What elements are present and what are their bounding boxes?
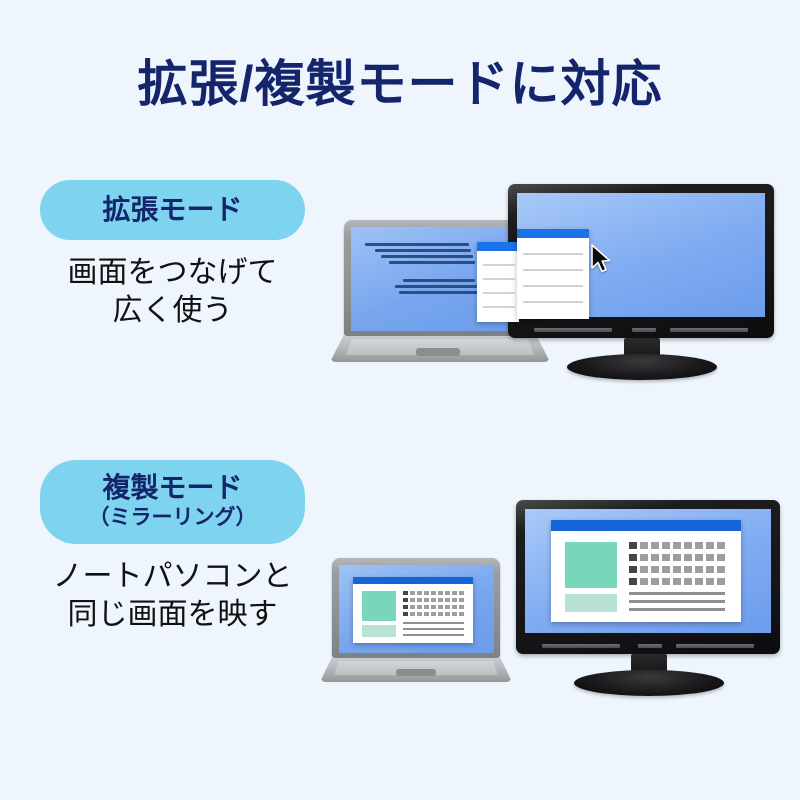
page-title: 拡張/複製モードに対応 [0,44,800,116]
window-title-bar [353,577,473,584]
monitor-speaker-left [542,644,620,648]
monitor-base [574,670,724,696]
mirror-mode-caption: ノートパソコンと 同じ画面を映す [40,558,305,635]
laptop-trackpad [396,669,436,676]
window-title-bar [551,520,741,531]
monitor-speaker-right [670,328,748,332]
section-mirror-mode: 複製モード （ミラーリング） ノートパソコンと 同じ画面を映す [0,460,800,710]
window-title-bar [517,229,589,238]
laptop-mirrored [320,558,512,690]
image-placeholder-small [362,625,396,637]
text-line [403,634,464,636]
desktop-text-line [365,243,469,246]
document-window [353,577,473,643]
laptop-trackpad [416,348,460,356]
mouse-cursor-icon [590,244,612,274]
mirror-label-column: 複製モード （ミラーリング） ノートパソコンと 同じ画面を映す [40,460,305,635]
mirror-mode-badge-sublabel: （ミラーリング） [89,505,257,531]
laptop-lid [332,558,500,658]
monitor-screen [525,509,771,633]
window-content-line [523,285,583,287]
mirror-mode-badge: 複製モード （ミラーリング） [40,460,305,544]
extend-label-column: 拡張モード 画面をつなげて 広く使う [40,180,305,331]
window-content-line [523,301,583,303]
text-line [403,622,464,624]
application-window-right-half [517,229,589,319]
monitor-speaker-left [534,328,612,332]
application-window-left-half [477,242,519,322]
monitor-power-indicator [638,644,662,648]
image-placeholder-large [362,591,396,621]
window-content-line [523,253,583,255]
extend-mode-badge-label: 拡張モード [102,195,242,226]
image-placeholder-large [565,542,617,588]
desktop-text-line [399,291,479,294]
extend-mode-badge: 拡張モード [40,180,305,240]
text-line [403,628,464,630]
document-window [551,520,741,622]
image-placeholder-small [565,594,617,612]
mirror-mode-badge-label: 複製モード [102,473,242,504]
mirror-mode-illustration [320,500,780,710]
window-content-line [483,278,515,280]
window-content-line [483,306,515,308]
text-line [629,600,725,603]
text-line [629,592,725,595]
window-content-line [483,292,515,294]
desktop-text-line [389,261,475,264]
monitor-mirrored [516,500,780,696]
monitor-power-indicator [632,328,656,332]
monitor-base [567,354,717,380]
monitor-speaker-right [676,644,754,648]
desktop-text-line [403,279,475,282]
extend-mode-caption: 画面をつなげて 広く使う [40,254,305,331]
window-title-bar [477,242,519,251]
desktop-text-line [381,255,473,258]
text-line [629,608,725,611]
infographic-page: 拡張/複製モードに対応 拡張モード 画面をつなげて 広く使う [0,0,800,800]
section-extend-mode: 拡張モード 画面をつなげて 広く使う [0,180,800,410]
window-content-line [483,264,515,266]
monitor-bezel [516,500,780,654]
desktop-text-line [395,285,477,288]
extend-mode-illustration [330,184,780,404]
laptop-screen [339,565,494,653]
desktop-text-line [375,249,471,252]
window-content-line [523,269,583,271]
